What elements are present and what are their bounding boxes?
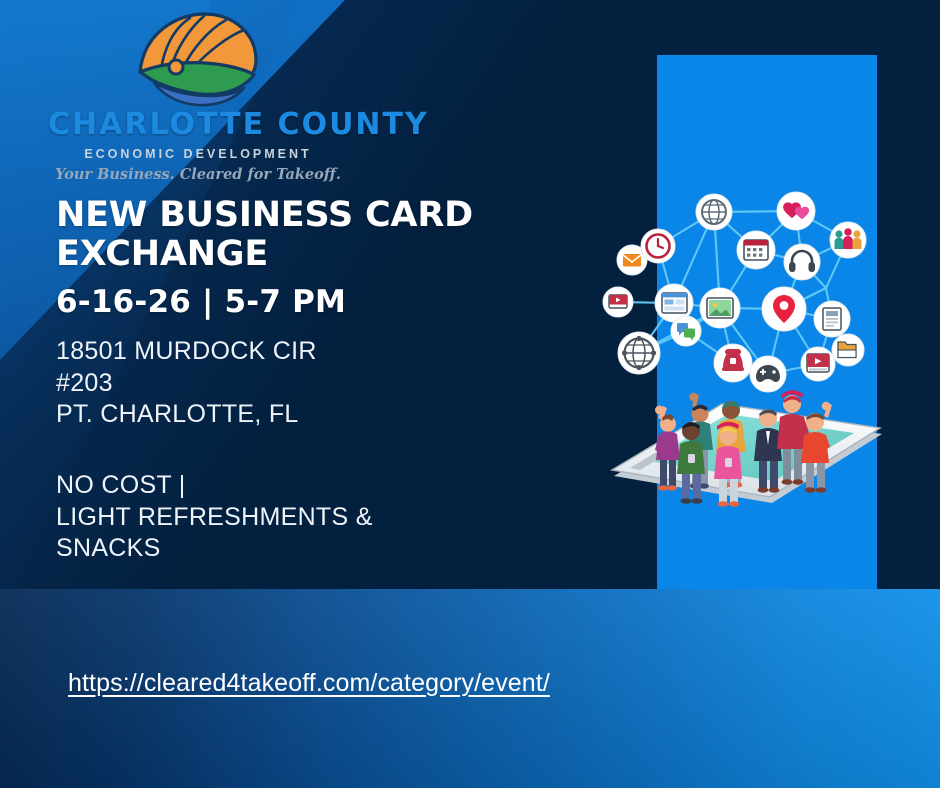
logo-tagline: Your Business. Cleared for Takeoff.	[48, 166, 348, 183]
event-perks: NO COST | LIGHT REFRESHMENTS & SNACKS	[56, 470, 373, 565]
telephone-icon	[714, 344, 752, 382]
hearts-icon	[777, 192, 815, 230]
video-player-icon	[603, 287, 633, 317]
logo-division-name: ECONOMIC DEVELOPMENT	[48, 147, 348, 161]
social-network-illustration	[596, 178, 896, 508]
perks-line: SNACKS	[56, 533, 373, 565]
event-datetime: 6-16-26 | 5-7 PM	[56, 284, 346, 320]
clock-icon	[641, 229, 675, 263]
event-flyer: CHARLOTTE COUNTY ECONOMIC DEVELOPMENT Yo…	[0, 0, 940, 788]
address-line: 18501 MURDOCK CIR	[56, 336, 317, 368]
perks-line: LIGHT REFRESHMENTS &	[56, 502, 373, 534]
document-icon	[814, 301, 850, 337]
logo-organization-name: CHARLOTTE COUNTY	[48, 110, 348, 140]
chat-bubbles-icon	[671, 316, 701, 346]
folder-icon	[832, 334, 864, 366]
calendar-icon	[737, 231, 775, 269]
charlotte-county-sunrise-mark	[130, 8, 266, 112]
event-headline: NEW BUSINESS CARD EXCHANGE	[56, 196, 526, 274]
perks-line: NO COST |	[56, 470, 373, 502]
address-line: PT. CHARLOTTE, FL	[56, 399, 317, 431]
people-group-icon	[830, 222, 866, 258]
location-pin-icon	[762, 287, 806, 331]
image-icon	[700, 288, 740, 328]
media-icon	[801, 347, 835, 381]
event-address: 18501 MURDOCK CIR #203 PT. CHARLOTTE, FL	[56, 336, 317, 431]
organization-logo: CHARLOTTE COUNTY ECONOMIC DEVELOPMENT Yo…	[48, 8, 348, 183]
address-line: #203	[56, 368, 317, 400]
headphones-icon	[784, 244, 820, 280]
event-url-link[interactable]: https://cleared4takeoff.com/category/eve…	[68, 669, 550, 698]
gamepad-icon	[750, 356, 786, 392]
globe-icon	[696, 194, 732, 230]
network-globe-icon	[618, 332, 660, 374]
smartphone	[612, 404, 882, 503]
